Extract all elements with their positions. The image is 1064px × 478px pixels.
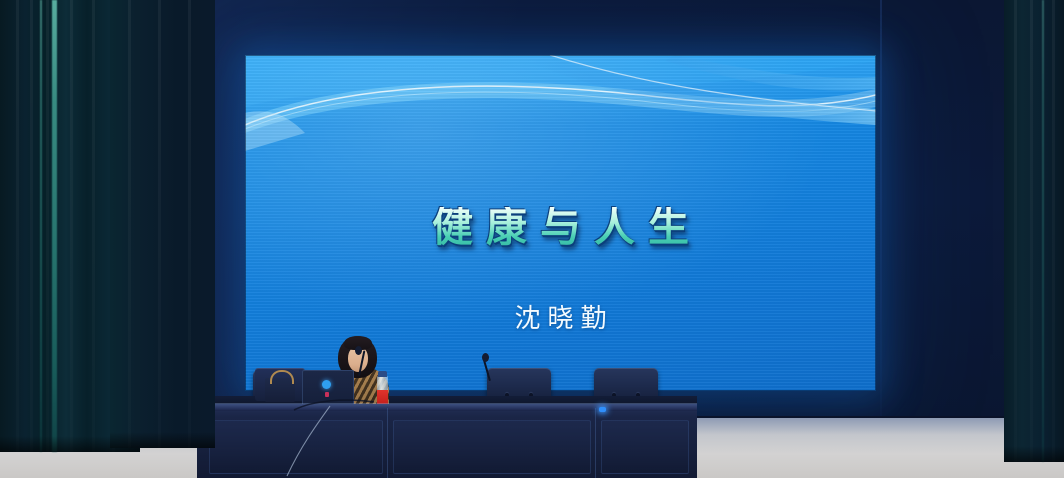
handbag-handle [270,370,294,384]
stage-curtain-right [1004,0,1064,462]
wall-seam-right [880,0,882,430]
desk-panel [393,420,591,474]
slide-title: 健康与人生 [245,207,876,248]
curtain-fold [1052,0,1055,462]
microphone-head-icon [482,353,489,362]
curtain-fold-highlight [1042,0,1044,462]
curtain-fold-highlight [52,0,57,452]
water-bottle-label [377,390,388,404]
water-bottle-cap [378,371,387,377]
curtain-fold [158,0,161,448]
conference-desk [197,404,697,478]
laptop-logo-icon [322,380,331,389]
desk-seam [387,408,388,478]
curtain-fold [1030,0,1033,462]
slide-presenter-name: 沈晓勤 [245,298,876,335]
desk-top-rail [197,404,697,411]
curtain-fold [46,0,49,452]
curtain-fold [30,0,33,452]
stage-photo-scene: 健康与人生 沈晓勤 [0,0,1064,478]
curtain-fold-highlight [40,0,42,452]
microphone-head-icon [355,346,362,355]
curtain-fold [188,0,191,448]
desk-seam [595,408,596,478]
curtain-hem [1004,446,1064,462]
desk-status-led-icon [599,407,606,412]
stage-curtain-left-inner [110,0,215,448]
desk-panel [209,420,383,474]
curtain-fold [128,0,131,448]
led-projection-screen: 健康与人生 沈晓勤 [245,55,876,391]
curtain-fold [70,0,73,452]
curtain-fold [1014,0,1017,462]
laptop-indicator-icon [325,392,329,397]
curtain-fold [16,0,19,452]
curtain-hem [110,432,215,448]
desk-panel [601,420,689,474]
curtain-fold [92,0,95,452]
